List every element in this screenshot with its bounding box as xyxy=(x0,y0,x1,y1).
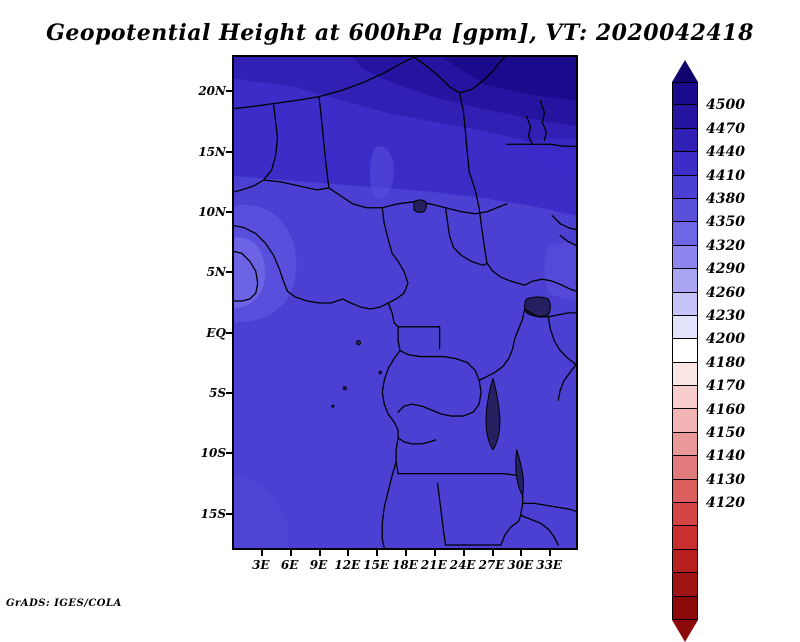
map-plot-area xyxy=(232,55,578,550)
x-axis-labels: 3E6E9E12E15E18E21E24E27E30E33E xyxy=(232,558,578,578)
map-canvas xyxy=(234,57,576,548)
y-tick-mark xyxy=(226,392,232,394)
footer-credit: GrADS: IGES/COLA xyxy=(6,598,122,609)
colorbar-tick-label: 4380 xyxy=(706,191,745,207)
colorbar-tick-label: 4230 xyxy=(706,308,745,324)
colorbar-tick-label: 4440 xyxy=(706,144,745,160)
y-tick-label: 5N xyxy=(207,265,226,279)
y-tick-mark xyxy=(226,452,232,454)
colorbar-tick-label: 4170 xyxy=(706,378,745,394)
colorbar-cap-bottom xyxy=(672,620,698,642)
colorbar-swatch xyxy=(672,597,698,620)
y-tick-label: 10S xyxy=(201,446,226,460)
x-tick-mark xyxy=(290,550,292,556)
x-tick-label: 24E xyxy=(450,558,476,572)
y-tick-label: 10N xyxy=(198,205,226,219)
x-tick-mark xyxy=(520,550,522,556)
y-tick-label: 15S xyxy=(201,507,226,521)
x-tick-mark xyxy=(347,550,349,556)
x-tick-mark xyxy=(549,550,551,556)
x-tick-label: 21E xyxy=(421,558,447,572)
colorbar-swatch xyxy=(672,526,698,549)
colorbar-swatch xyxy=(672,503,698,526)
x-tick-mark xyxy=(261,550,263,556)
colorbar-swatch xyxy=(672,105,698,128)
page-title: Geopotential Height at 600hPa [gpm], VT:… xyxy=(0,20,800,46)
colorbar-swatch xyxy=(672,199,698,222)
colorbar-swatch xyxy=(672,293,698,316)
y-tick-mark xyxy=(226,271,232,273)
colorbar-cap-top xyxy=(672,60,698,82)
y-tick-mark xyxy=(226,513,232,515)
x-tick-label: 15E xyxy=(363,558,389,572)
colorbar-tick-label: 4500 xyxy=(706,97,745,113)
colorbar-swatch xyxy=(672,409,698,432)
colorbar-swatch xyxy=(672,246,698,269)
colorbar-tick-label: 4470 xyxy=(706,121,745,137)
x-tick-label: 6E xyxy=(281,558,299,572)
y-tick-mark xyxy=(226,90,232,92)
x-tick-label: 9E xyxy=(310,558,328,572)
x-tick-label: 12E xyxy=(334,558,360,572)
x-tick-mark xyxy=(405,550,407,556)
x-tick-mark xyxy=(319,550,321,556)
colorbar-swatch xyxy=(672,386,698,409)
colorbar-swatch xyxy=(672,456,698,479)
colorbar-tick-label: 4140 xyxy=(706,448,745,464)
colorbar-tick-label: 4410 xyxy=(706,168,745,184)
colorbar-tick-label: 4320 xyxy=(706,238,745,254)
colorbar-tick-label: 4160 xyxy=(706,402,745,418)
colorbar-swatch xyxy=(672,573,698,596)
y-tick-mark xyxy=(226,211,232,213)
colorbar-tick-label: 4120 xyxy=(706,495,745,511)
colorbar-swatch xyxy=(672,82,698,105)
x-tick-label: 27E xyxy=(479,558,505,572)
colorbar-tick-label: 4200 xyxy=(706,331,745,347)
y-tick-label: 20N xyxy=(198,84,226,98)
colorbar-tick-label: 4260 xyxy=(706,285,745,301)
colorbar-swatch xyxy=(672,363,698,386)
x-tick-mark xyxy=(376,550,378,556)
y-tick-mark xyxy=(226,151,232,153)
colorbar-swatch xyxy=(672,222,698,245)
colorbar-swatch xyxy=(672,316,698,339)
x-tick-mark xyxy=(434,550,436,556)
colorbar-tick-label: 4150 xyxy=(706,425,745,441)
y-tick-label: EQ xyxy=(206,326,226,340)
y-tick-label: 5S xyxy=(209,386,226,400)
x-tick-mark xyxy=(463,550,465,556)
colorbar-swatch xyxy=(672,129,698,152)
colorbar-swatch xyxy=(672,480,698,503)
x-tick-label: 3E xyxy=(252,558,270,572)
colorbar: 4500447044404410438043504320429042604230… xyxy=(668,60,798,555)
colorbar-swatch xyxy=(672,176,698,199)
y-axis-labels: 20N15N10N5NEQ5S10S15S xyxy=(150,55,226,550)
x-tick-label: 33E xyxy=(536,558,562,572)
colorbar-swatch xyxy=(672,152,698,175)
colorbar-swatches xyxy=(672,82,698,620)
colorbar-tick-label: 4350 xyxy=(706,214,745,230)
x-tick-label: 30E xyxy=(507,558,533,572)
x-tick-mark xyxy=(492,550,494,556)
colorbar-swatch xyxy=(672,433,698,456)
y-tick-label: 15N xyxy=(198,145,226,159)
colorbar-swatch xyxy=(672,339,698,362)
colorbar-swatch xyxy=(672,269,698,292)
colorbar-swatch xyxy=(672,550,698,573)
colorbar-tick-label: 4180 xyxy=(706,355,745,371)
colorbar-tick-label: 4130 xyxy=(706,472,745,488)
y-tick-mark xyxy=(226,332,232,334)
colorbar-tick-label: 4290 xyxy=(706,261,745,277)
x-tick-label: 18E xyxy=(392,558,418,572)
